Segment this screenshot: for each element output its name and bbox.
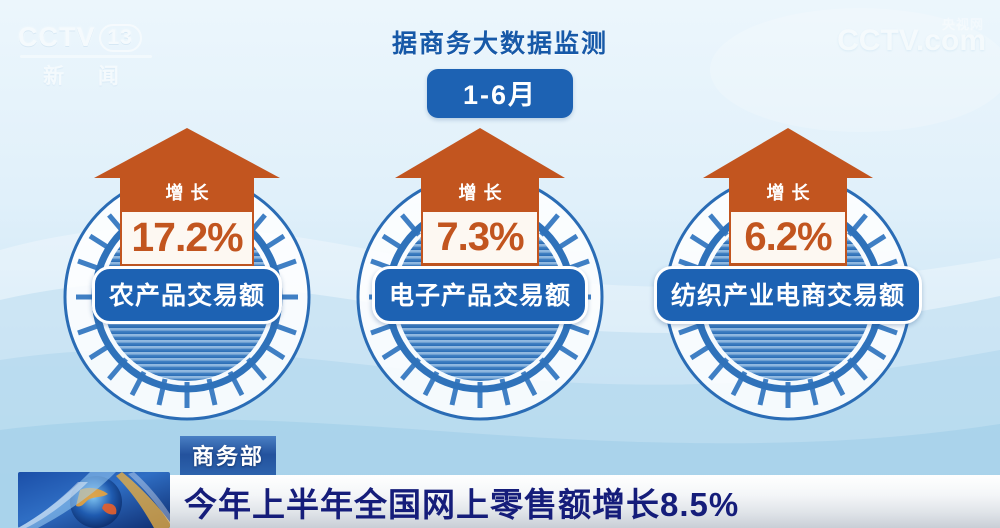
growth-value: 17.2%: [120, 210, 254, 266]
source-tag: 商务部: [180, 436, 276, 475]
up-arrow-icon: [703, 128, 873, 178]
headline-bar: 今年上半年全国网上零售额增长8.5%: [170, 475, 1000, 528]
arrow-body: 增长 6.2%: [729, 178, 847, 273]
arrow-body: 增长 17.2%: [120, 178, 254, 274]
headline-text: 今年上半年全国网上零售额增长8.5%: [170, 478, 739, 526]
up-arrow-icon: [94, 128, 280, 178]
growth-arrow: 增长 7.3%: [395, 128, 565, 273]
lower-third: 商务部 今年上半年全国网上零售额增长8.5%: [0, 436, 1000, 528]
growth-label: 增长: [421, 178, 539, 210]
broadcast-screen: CCTV 13 新 闻 央视网 CCTV.com 据商务大数据监测 1-6月: [0, 0, 1000, 528]
metric-name: 电子产品交易额: [372, 266, 588, 324]
period-badge: 1-6月: [427, 69, 573, 118]
page-title: 据商务大数据监测: [0, 24, 1000, 60]
metric-name: 纺织产业电商交易额: [654, 266, 922, 324]
growth-arrow: 增长 17.2%: [94, 128, 280, 274]
up-arrow-icon: [395, 128, 565, 178]
globe-graphic-icon: [18, 472, 170, 528]
growth-value: 7.3%: [421, 210, 539, 265]
stat-card-group: 增长 17.2% 农产品交易额: [0, 128, 1000, 398]
growth-value: 6.2%: [729, 210, 847, 265]
growth-label: 增长: [120, 178, 254, 210]
metric-name: 农产品交易额: [92, 266, 282, 324]
growth-arrow: 增长 6.2%: [703, 128, 873, 273]
arrow-body: 增长 7.3%: [421, 178, 539, 273]
growth-label: 增长: [729, 178, 847, 210]
header: 据商务大数据监测 1-6月: [0, 24, 1000, 118]
